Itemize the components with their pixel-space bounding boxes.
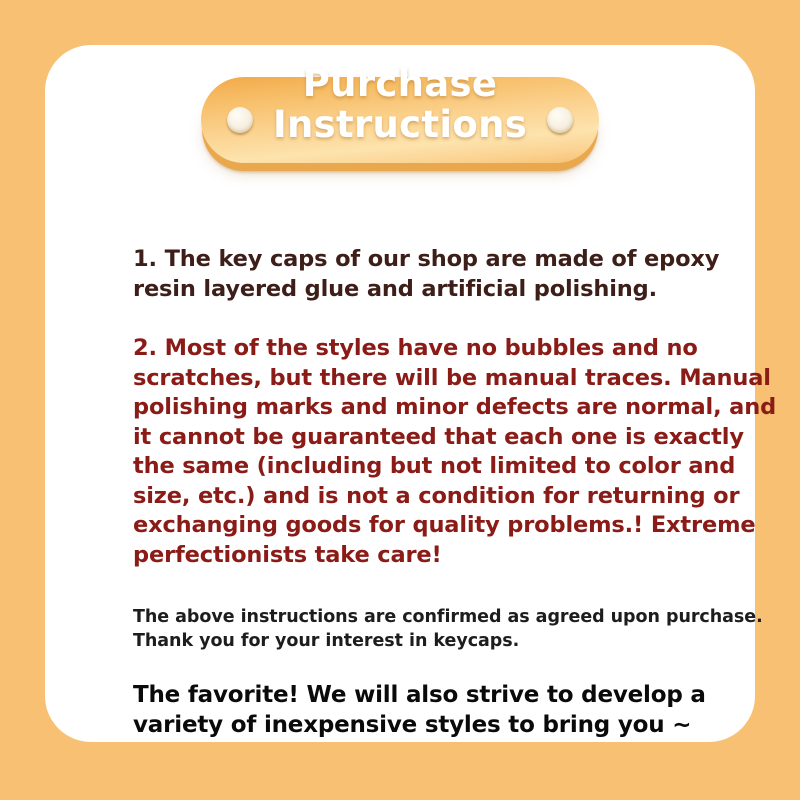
header-plaque-area: Purchase Instructions [45, 73, 755, 193]
instructions-body: 1. The key caps of our shop are made of … [133, 245, 778, 570]
instruction-item-2: 2. Most of the styles have no bubbles an… [133, 334, 778, 570]
instruction-item-1: 1. The key caps of our shop are made of … [133, 245, 778, 304]
rivet-left-icon [227, 107, 253, 133]
purchase-instructions-plaque [201, 77, 599, 163]
agreement-note: The above instructions are confirmed as … [133, 605, 778, 653]
rivet-right-icon [547, 107, 573, 133]
closing-section: The above instructions are confirmed as … [133, 605, 778, 740]
closing-tagline: The favorite! We will also strive to dev… [133, 680, 778, 740]
instructions-card: Purchase Instructions 1. The key caps of… [45, 45, 755, 742]
